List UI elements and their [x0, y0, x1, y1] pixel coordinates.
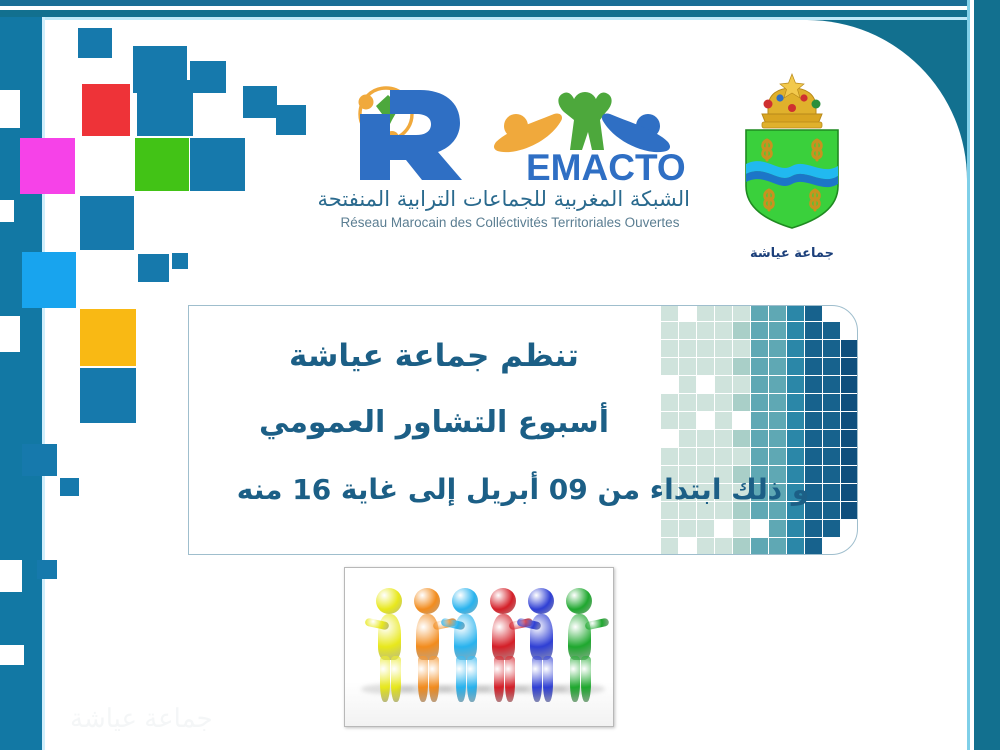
mosaic-square [37, 560, 57, 579]
person-leg [418, 656, 428, 702]
remacto-arabic-name: الشبكة المغربية للجماعات الترابية المنفت… [330, 187, 690, 211]
announcement-line-2: أسبوع التشاور العمومي [211, 388, 657, 458]
mosaic-square [82, 84, 130, 136]
crown-icon [762, 74, 822, 128]
remacto-logo: EMACTO الشبكة المغربية للجماعات الترابية… [330, 80, 690, 250]
coat-of-arms-svg [722, 68, 862, 240]
person-head [490, 588, 516, 614]
shield-icon [746, 130, 838, 228]
mosaic-square [190, 61, 226, 93]
person-leg [456, 656, 466, 702]
announcement-mosaic-square [823, 520, 840, 537]
mosaic-square [137, 80, 193, 136]
person-leg [570, 656, 580, 702]
coat-of-arms: جماعة عياشة [722, 68, 862, 263]
announcement-mosaic-square [661, 520, 678, 537]
frame-notch [0, 645, 24, 665]
remacto-logo-svg: EMACTO [330, 80, 690, 185]
person-leg [380, 656, 390, 702]
mosaic-square [243, 86, 277, 118]
mosaic-square [172, 253, 188, 269]
announcement-box: تنظم جماعة عياشة أسبوع التشاور العمومي و… [188, 305, 858, 555]
mosaic-square [20, 138, 75, 194]
mosaic-square [78, 28, 112, 58]
person-leg [581, 656, 591, 702]
mosaic-square [22, 252, 76, 308]
person-head [376, 588, 402, 614]
announcement-mosaic-square [769, 520, 786, 537]
coat-of-arms-caption: جماعة عياشة [722, 246, 862, 261]
person-leg [532, 656, 542, 702]
person-leg [467, 656, 477, 702]
frame-notch [0, 316, 20, 352]
frame-notch [0, 90, 20, 128]
announcement-line-1: تنظم جماعة عياشة [211, 324, 657, 388]
remacto-logomark: EMACTO [330, 80, 690, 185]
mosaic-square [60, 478, 79, 496]
announcement-mosaic-square [805, 538, 822, 555]
frame-right-bar [974, 0, 1000, 750]
announcement-mosaic-square [751, 538, 768, 555]
announcement-text: تنظم جماعة عياشة أسبوع التشاور العمومي و… [189, 306, 857, 522]
person-head [566, 588, 592, 614]
frame-right-blue-hairline [967, 0, 970, 750]
person-head [452, 588, 478, 614]
poster-canvas: EMACTO الشبكة المغربية للجماعات الترابية… [0, 0, 1000, 750]
mosaic-square [138, 254, 169, 282]
announcement-mosaic-square [715, 538, 732, 555]
announcement-mosaic-square [661, 538, 678, 555]
announcement-line-3: و ذلك ابتداء من 09 أبريل إلى غاية 16 منه [211, 458, 835, 522]
mosaic-square [276, 105, 306, 135]
announcement-mosaic-square [733, 520, 750, 537]
remacto-french-name: Réseau Marocain des Colléctivités Territ… [330, 215, 690, 230]
announcement-mosaic-square [733, 538, 750, 555]
person-leg [494, 656, 504, 702]
people-illustration [344, 567, 614, 727]
frame-notch [0, 200, 14, 222]
announcement-mosaic-square [805, 520, 822, 537]
mosaic-square [80, 368, 136, 423]
person-figure [557, 588, 603, 706]
mosaic-square [22, 444, 57, 476]
people-figures [345, 568, 613, 726]
mosaic-square [190, 138, 245, 191]
mosaic-square [80, 309, 136, 366]
letter-r-icon [360, 90, 462, 180]
announcement-mosaic-square [787, 520, 804, 537]
announcement-mosaic-square [787, 538, 804, 555]
announcement-mosaic-square [697, 520, 714, 537]
person-leg [429, 656, 439, 702]
announcement-mosaic-square [769, 538, 786, 555]
frame-right-white-hairline [970, 0, 974, 750]
person-head [528, 588, 554, 614]
watermark-text: جماعة عياشة [70, 703, 213, 734]
person-leg [505, 656, 515, 702]
announcement-mosaic-square [679, 520, 696, 537]
person-head [414, 588, 440, 614]
mosaic-square [80, 196, 134, 250]
frame-notch [0, 560, 22, 592]
mosaic-square [135, 138, 189, 191]
person-leg [543, 656, 553, 702]
person-leg [391, 656, 401, 702]
announcement-mosaic-square [697, 538, 714, 555]
remacto-wordmark: EMACTO [526, 147, 686, 185]
